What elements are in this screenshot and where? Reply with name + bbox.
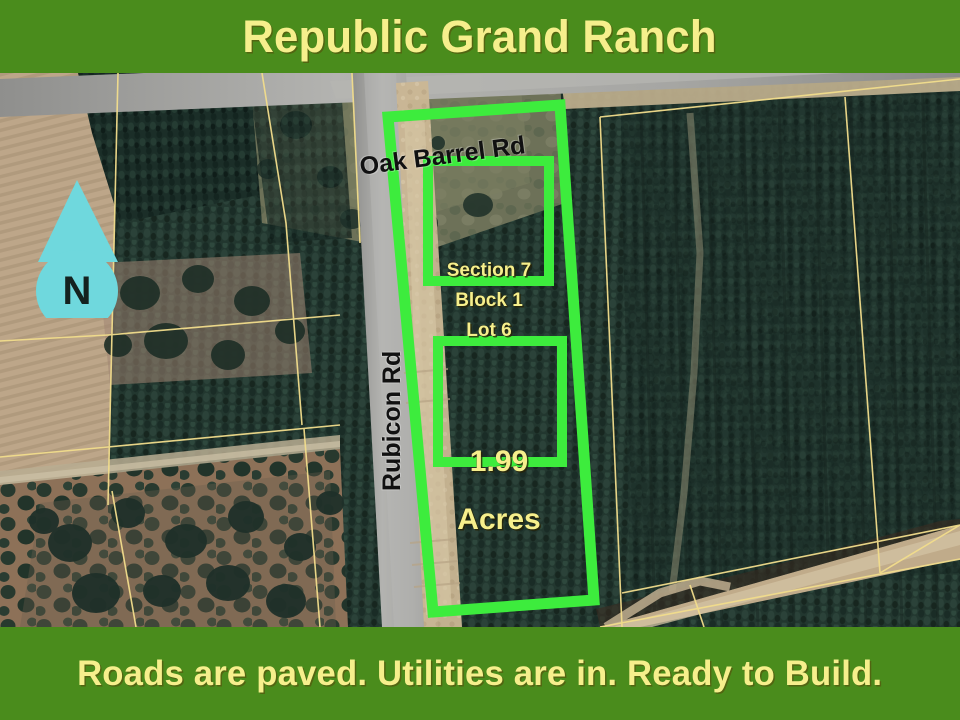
north-arrow: N [36, 178, 132, 318]
tagline-banner: Roads are paved. Utilities are in. Ready… [0, 627, 960, 720]
lot-identifier-text: Section 7 Block 1 Lot 6 [425, 256, 553, 346]
lot-acreage-value: 1.99 [435, 433, 563, 491]
lot-section-label: Section 7 [425, 256, 553, 286]
tagline-text: Roads are paved. Utilities are in. Ready… [77, 654, 882, 694]
lot-lot-label: Lot 6 [425, 316, 553, 346]
aerial-map[interactable]: N Oak Barrel Rd Rubicon Rd Section 7 Blo… [0, 73, 960, 627]
lot-acreage-text: 1.99 Acres [435, 433, 563, 549]
lot-map-flyer: Republic Grand Ranch [0, 0, 960, 720]
lot-block-label: Block 1 [425, 286, 553, 316]
road-label-rubicon: Rubicon Rd [378, 351, 407, 491]
title-banner: Republic Grand Ranch [0, 0, 960, 73]
page-title: Republic Grand Ranch [243, 11, 717, 63]
lot-acreage-unit: Acres [435, 491, 563, 549]
compass-icon [36, 178, 132, 318]
